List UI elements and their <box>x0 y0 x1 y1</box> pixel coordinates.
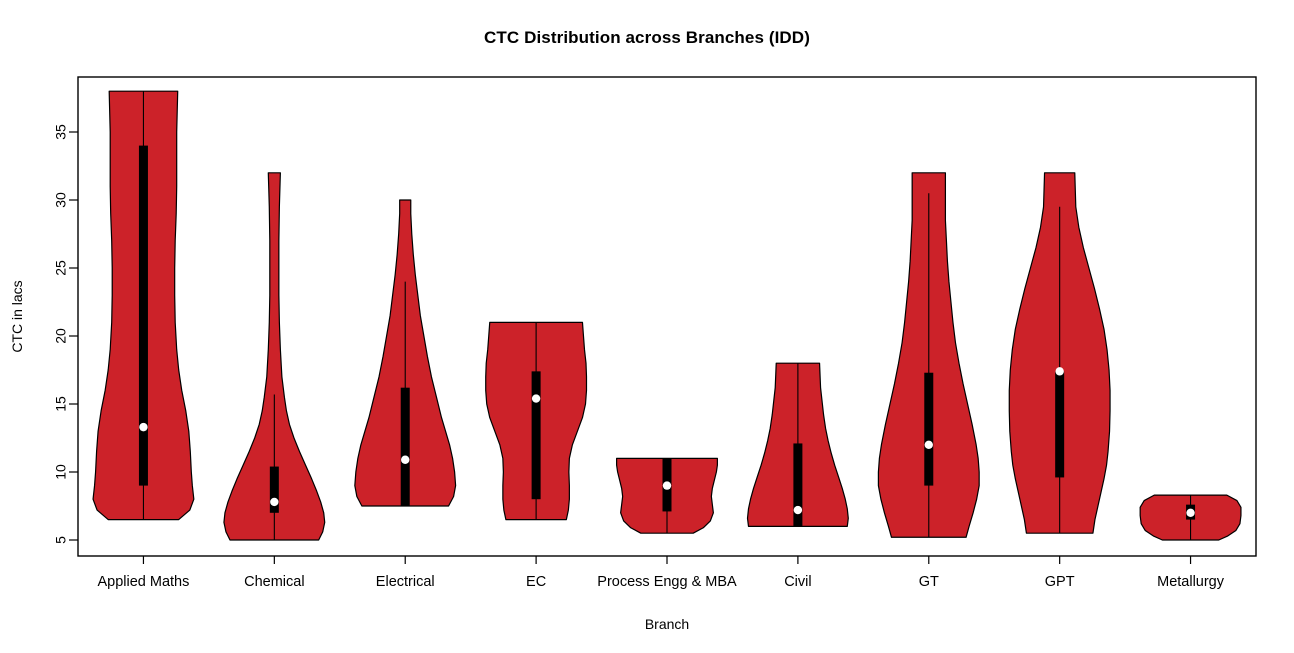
violin-metallurgy <box>1140 495 1241 540</box>
x-tick-label-electrical: Electrical <box>376 574 435 590</box>
violin-ec <box>486 322 587 519</box>
iqr-box <box>139 146 148 486</box>
median-dot <box>1186 509 1194 517</box>
violin-electrical <box>355 200 456 506</box>
median-dot <box>925 441 933 449</box>
violin-gpt <box>1009 173 1110 533</box>
median-dot <box>401 456 409 464</box>
violins-layer <box>93 91 1241 540</box>
x-tick-label-gpt: GPT <box>1045 574 1075 590</box>
median-dot <box>663 481 671 489</box>
iqr-box <box>1055 371 1064 477</box>
x-tick-label-gt: GT <box>919 574 939 590</box>
y-axis-title: CTC in lacs <box>9 280 25 352</box>
x-tick-label-applied-maths: Applied Maths <box>97 574 189 590</box>
violin-process-engg-mba <box>617 458 718 533</box>
violin-civil <box>748 363 849 526</box>
violin-chemical <box>224 173 325 540</box>
x-tick-label-process-engg-mba: Process Engg & MBA <box>597 574 737 590</box>
violin-plot-figure: CTC Distribution across Branches (IDD) 5… <box>0 0 1294 653</box>
y-tick-label: 15 <box>53 396 69 412</box>
y-tick-label: 20 <box>53 328 69 344</box>
x-axis-title: Branch <box>645 616 689 632</box>
x-tick-label-chemical: Chemical <box>244 574 304 590</box>
iqr-box <box>924 373 933 486</box>
plot-canvas: 5101520253035 CTC in lacsBranchApplied M… <box>0 0 1294 653</box>
y-tick-label: 5 <box>53 536 69 544</box>
x-tick-label-ec: EC <box>526 574 546 590</box>
y-tick-label: 25 <box>53 260 69 276</box>
y-tick-label: 10 <box>53 464 69 480</box>
median-dot <box>1055 367 1063 375</box>
violin-applied-maths <box>93 91 194 519</box>
x-tick-label-metallurgy: Metallurgy <box>1157 574 1225 590</box>
y-tick-label: 35 <box>53 124 69 140</box>
x-tick-label-civil: Civil <box>784 574 811 590</box>
violin-gt <box>878 173 979 537</box>
median-dot <box>532 394 540 402</box>
iqr-box <box>532 371 541 499</box>
median-dot <box>794 506 802 514</box>
iqr-box <box>401 388 410 506</box>
y-tick-label: 30 <box>53 192 69 208</box>
median-dot <box>139 423 147 431</box>
median-dot <box>270 498 278 506</box>
